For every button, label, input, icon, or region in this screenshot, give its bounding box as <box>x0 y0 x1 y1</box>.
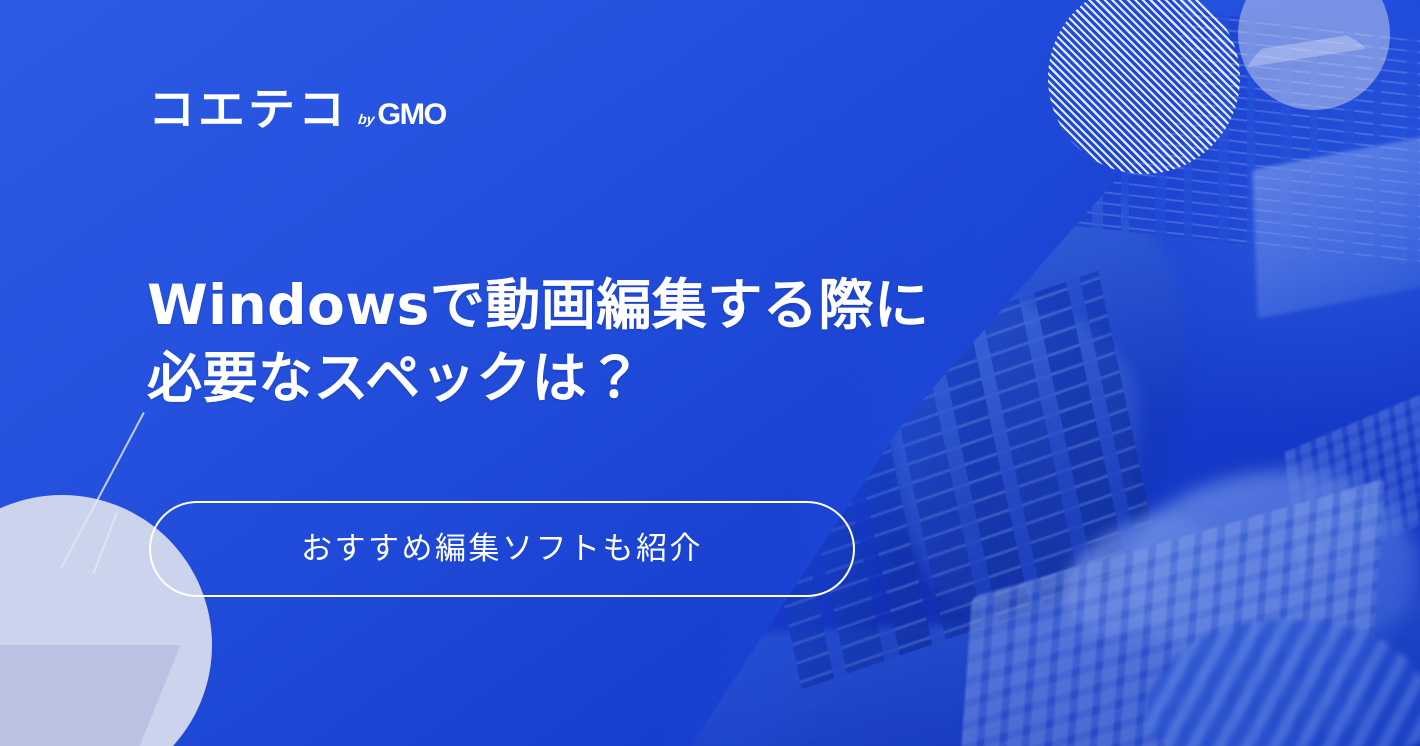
cta-pill-label: おすすめ編集ソフトも紹介 <box>301 534 703 565</box>
headline-line-1: Windowsで動画編集する際に <box>147 269 1047 342</box>
koeteco-logo[interactable]: コエテコ by GMO <box>148 80 446 132</box>
hero-banner: コエテコ by GMO Windowsで動画編集する際に 必要なスペックは？ お… <box>0 0 1420 746</box>
headline-line-2: 必要なスペックは？ <box>147 342 1047 415</box>
logo-katakana-text: コエテコ <box>148 88 348 132</box>
page-title: Windowsで動画編集する際に 必要なスペックは？ <box>147 269 1047 415</box>
logo-gmo-text: GMO <box>378 100 447 132</box>
logo-by-text: by <box>357 111 376 132</box>
cta-pill-button[interactable]: おすすめ編集ソフトも紹介 <box>149 501 855 597</box>
